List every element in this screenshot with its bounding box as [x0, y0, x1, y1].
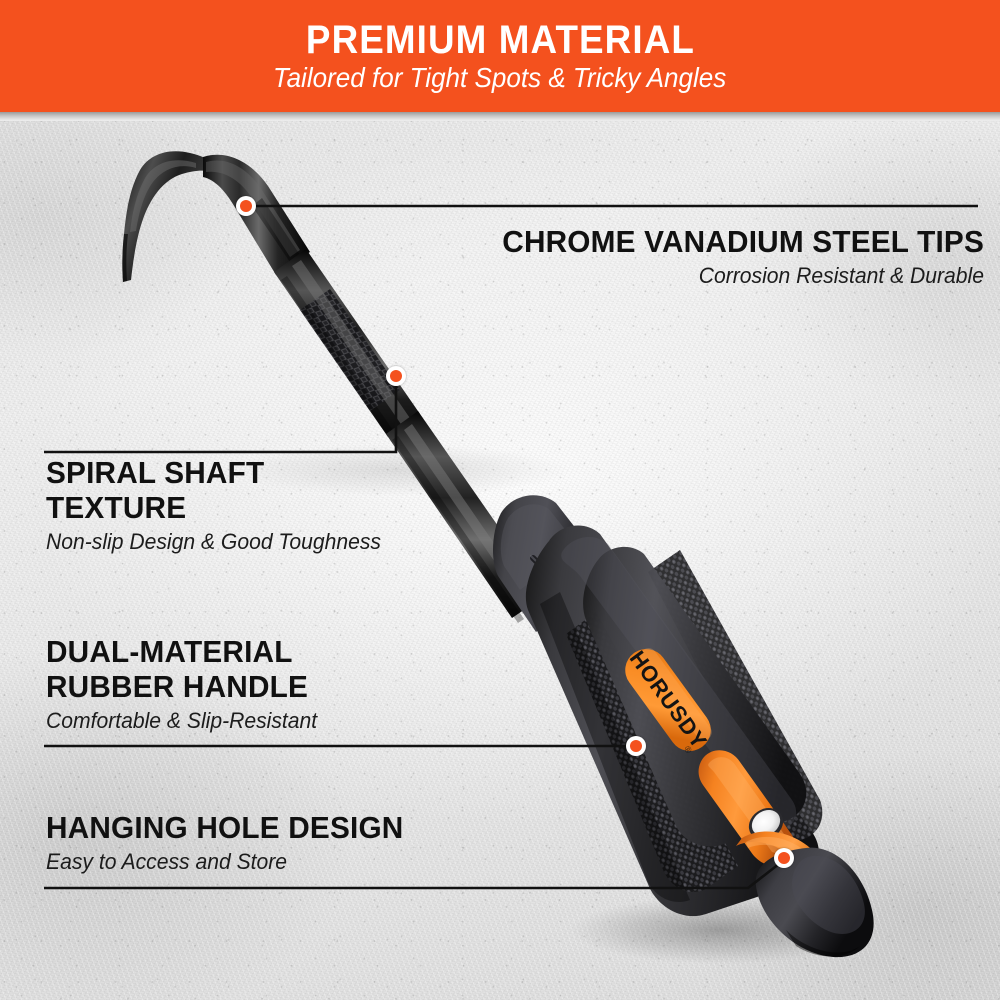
callout-title: CHROME VANADIUM STEEL TIPS [408, 224, 984, 259]
callout-subtitle: Non-slip Design & Good Toughness [46, 529, 488, 555]
callout-spiral-shaft-texture: SPIRAL SHAFT TEXTURE Non-slip Design & G… [46, 455, 506, 555]
callout-chrome-vanadium-steel-tips: CHROME VANADIUM STEEL TIPS Corrosion Res… [384, 224, 984, 289]
callout-title: DUAL-MATERIAL RUBBER HANDLE [46, 634, 507, 704]
callout-dual-material-rubber-handle: DUAL-MATERIAL RUBBER HANDLE Comfortable … [46, 634, 526, 734]
callout-subtitle: Comfortable & Slip-Resistant [46, 708, 507, 734]
callout-title: HANGING HOLE DESIGN [46, 810, 507, 845]
header-drop-shadow [0, 112, 1000, 121]
marker-dot-spiral-shaft [386, 366, 406, 386]
infographic-canvas: PREMIUM MATERIAL Tailored for Tight Spot… [0, 0, 1000, 1000]
marker-dot-rubber-handle [626, 736, 646, 756]
marker-dot-chrome-vanadium [236, 196, 256, 216]
callout-subtitle: Corrosion Resistant & Durable [408, 263, 984, 289]
leader-line-spiral-shaft [44, 378, 396, 452]
header-banner: PREMIUM MATERIAL Tailored for Tight Spot… [0, 0, 1000, 112]
marker-dot-hanging-hole [774, 848, 794, 868]
header-title: PREMIUM MATERIAL [305, 20, 694, 60]
callout-subtitle: Easy to Access and Store [46, 849, 507, 875]
header-subtitle: Tailored for Tight Spots & Tricky Angles [273, 64, 726, 92]
callout-hanging-hole-design: HANGING HOLE DESIGN Easy to Access and S… [46, 810, 526, 875]
callout-title: SPIRAL SHAFT TEXTURE [46, 455, 488, 525]
